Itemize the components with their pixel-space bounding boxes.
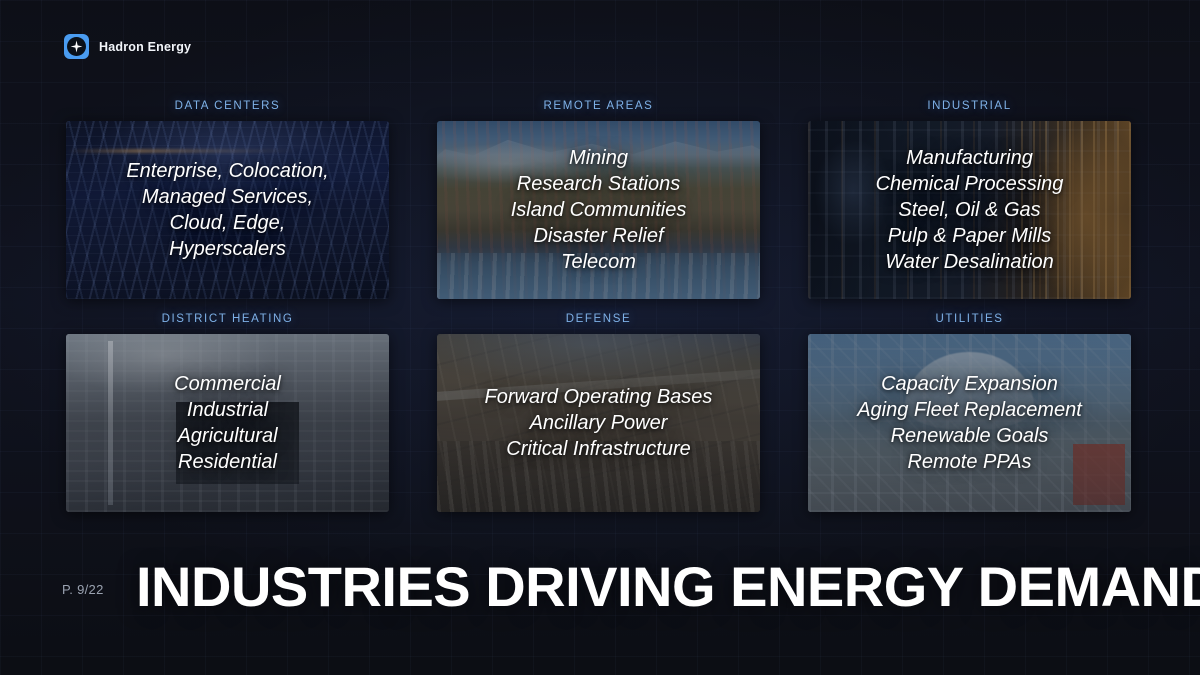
- category-label: DATA CENTERS: [66, 100, 389, 112]
- category-item-list: Enterprise, Colocation, Managed Services…: [66, 121, 389, 299]
- category-grid: DATA CENTERS Enterprise, Colocation, Man…: [66, 100, 1134, 512]
- list-item: Chemical Processing: [876, 172, 1064, 197]
- list-item: Residential: [178, 450, 277, 475]
- list-item: Forward Operating Bases: [485, 385, 713, 410]
- list-item: Agricultural: [177, 424, 277, 449]
- list-item: Critical Infrastructure: [506, 437, 691, 462]
- category-item-list: Capacity Expansion Aging Fleet Replaceme…: [808, 334, 1131, 512]
- category-label: INDUSTRIAL: [808, 100, 1131, 112]
- category-district-heating[interactable]: DISTRICT HEATING Commercial Industrial A…: [66, 313, 389, 512]
- category-card[interactable]: Manufacturing Chemical Processing Steel,…: [808, 121, 1131, 299]
- category-label: UTILITIES: [808, 313, 1131, 325]
- list-item: Steel, Oil & Gas: [898, 198, 1040, 223]
- slide-footer: P. 9/22 INDUSTRIES DRIVING ENERGY DEMAND: [0, 556, 1200, 626]
- category-card[interactable]: Capacity Expansion Aging Fleet Replaceme…: [808, 334, 1131, 512]
- four-point-star-icon: [67, 37, 86, 56]
- category-defense[interactable]: DEFENSE Forward Operating Bases Ancillar…: [437, 313, 760, 512]
- list-item: Research Stations: [517, 172, 680, 197]
- category-item-list: Mining Research Stations Island Communit…: [437, 121, 760, 299]
- category-item-list: Manufacturing Chemical Processing Steel,…: [808, 121, 1131, 299]
- list-item: Cloud, Edge,: [170, 211, 286, 236]
- category-card[interactable]: Commercial Industrial Agricultural Resid…: [66, 334, 389, 512]
- list-item: Commercial: [174, 372, 281, 397]
- list-item: Pulp & Paper Mills: [888, 224, 1051, 249]
- page-number: P. 9/22: [62, 582, 104, 597]
- category-card[interactable]: Mining Research Stations Island Communit…: [437, 121, 760, 299]
- brand-logo: Hadron Energy: [64, 34, 191, 59]
- brand-name: Hadron Energy: [99, 40, 191, 54]
- list-item: Remote PPAs: [907, 450, 1031, 475]
- category-utilities[interactable]: UTILITIES Capacity Expansion Aging Fleet…: [808, 313, 1131, 512]
- presentation-slide: Hadron Energy DATA CENTERS Enterprise, C…: [0, 0, 1200, 675]
- list-item: Managed Services,: [142, 185, 313, 210]
- list-item: Telecom: [561, 250, 636, 275]
- list-item: Industrial: [187, 398, 268, 423]
- list-item: Mining: [569, 146, 628, 171]
- list-item: Island Communities: [511, 198, 687, 223]
- category-item-list: Forward Operating Bases Ancillary Power …: [437, 334, 760, 512]
- category-label: REMOTE AREAS: [437, 100, 760, 112]
- list-item: Manufacturing: [906, 146, 1033, 171]
- list-item: Hyperscalers: [169, 237, 286, 262]
- list-item: Water Desalination: [885, 250, 1054, 275]
- category-remote-areas[interactable]: REMOTE AREAS Mining Research Stations Is…: [437, 100, 760, 299]
- list-item: Capacity Expansion: [881, 372, 1058, 397]
- slide-title: INDUSTRIES DRIVING ENERGY DEMAND: [136, 556, 1200, 618]
- logo-badge: [64, 34, 89, 59]
- category-label: DEFENSE: [437, 313, 760, 325]
- list-item: Enterprise, Colocation,: [126, 159, 328, 184]
- list-item: Disaster Relief: [533, 224, 663, 249]
- category-label: DISTRICT HEATING: [66, 313, 389, 325]
- category-item-list: Commercial Industrial Agricultural Resid…: [66, 334, 389, 512]
- list-item: Ancillary Power: [530, 411, 668, 436]
- category-card[interactable]: Enterprise, Colocation, Managed Services…: [66, 121, 389, 299]
- list-item: Renewable Goals: [891, 424, 1049, 449]
- category-card[interactable]: Forward Operating Bases Ancillary Power …: [437, 334, 760, 512]
- category-data-centers[interactable]: DATA CENTERS Enterprise, Colocation, Man…: [66, 100, 389, 299]
- category-industrial[interactable]: INDUSTRIAL Manufacturing Chemical Proces…: [808, 100, 1131, 299]
- list-item: Aging Fleet Replacement: [857, 398, 1082, 423]
